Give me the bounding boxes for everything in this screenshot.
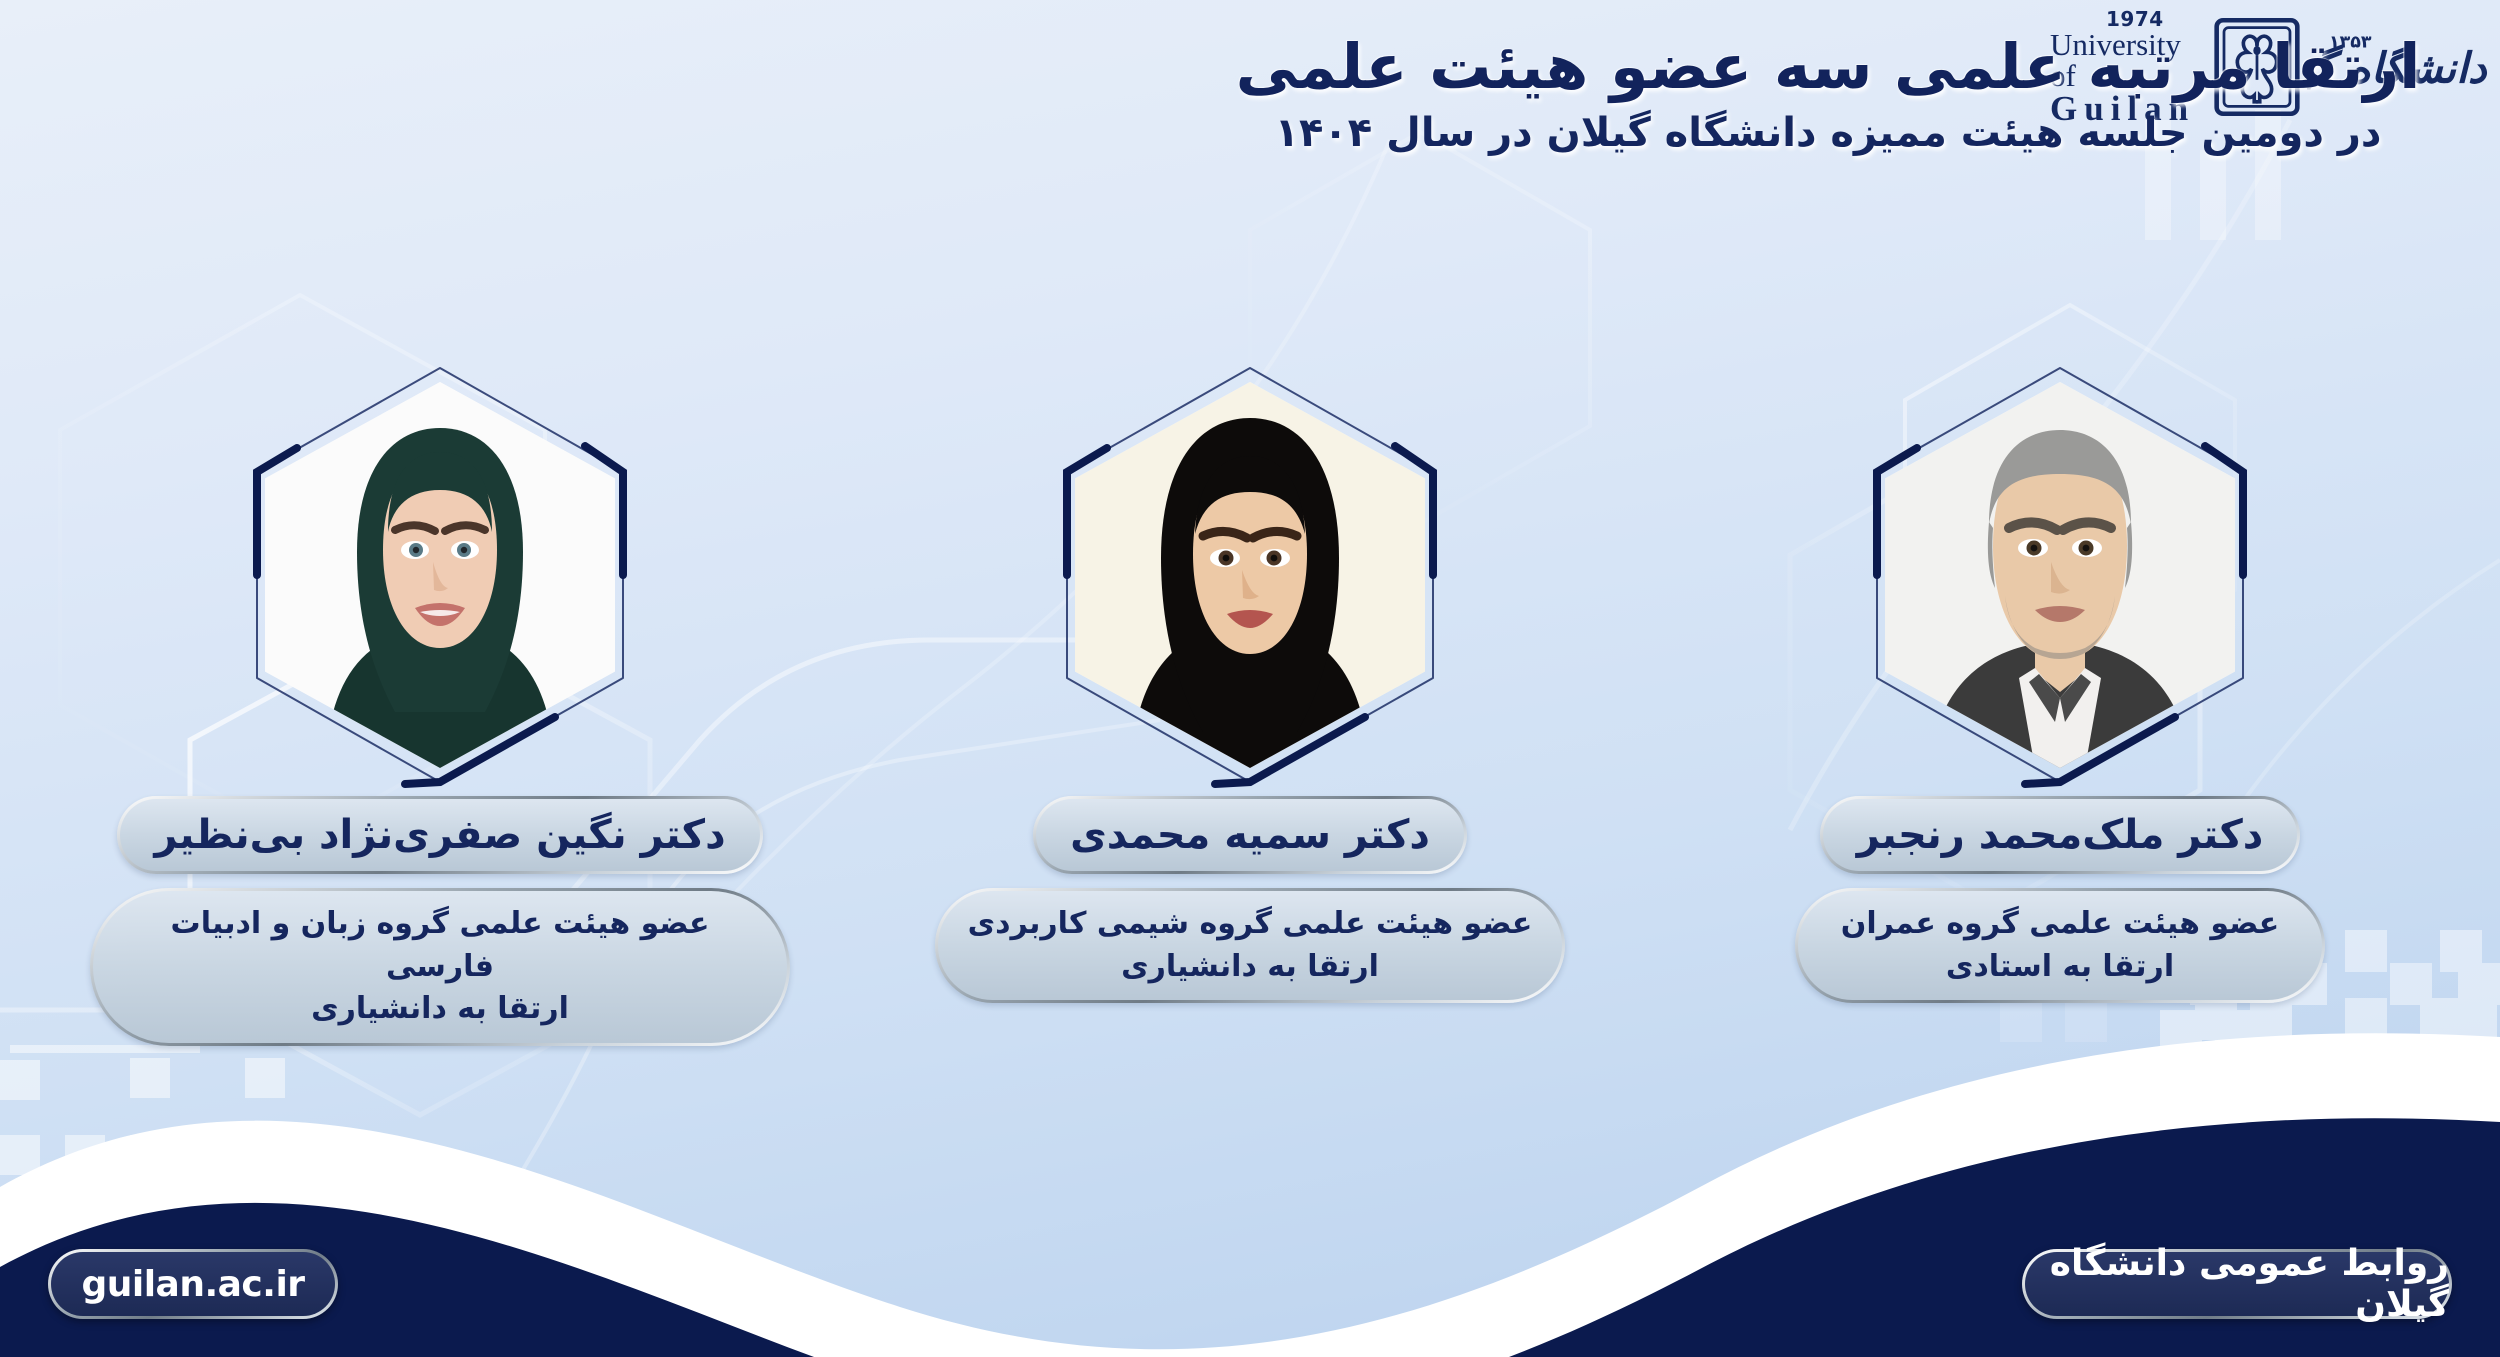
faculty-photo-frame	[1055, 360, 1445, 790]
hexagon-border-icon	[1055, 360, 1445, 790]
page-title: ارتقا مرتبه علمی سه عضو هیئت علمی	[1158, 30, 2498, 103]
title-block: ارتقا مرتبه علمی سه عضو هیئت علمی در دوم…	[1158, 30, 2498, 157]
poster-canvas: 1974 University of Guilan دانشگاه گیلان …	[0, 0, 2500, 1357]
hexagon-border-icon	[1865, 360, 2255, 790]
faculty-photo-frame	[1865, 360, 2255, 790]
hexagon-border-icon	[245, 360, 635, 790]
faculty-name-badge: دکتر نگین صفری‌نژاد بی‌نظیر	[117, 796, 762, 874]
website-label: guilan.ac.ir	[81, 1264, 304, 1305]
faculty-name-badge: دکتر ملک‌محمد رنجبر	[1820, 796, 2301, 874]
website-badge[interactable]: guilan.ac.ir	[48, 1249, 338, 1319]
faculty-name-badge: دکتر سمیه محمدی	[1033, 796, 1467, 874]
faculty-photo-frame	[245, 360, 635, 790]
public-relations-badge: روابط عمومی دانشگاه گیلان	[2022, 1249, 2452, 1319]
page-subtitle: در دومین جلسه هیئت ممیزه دانشگاه گیلان د…	[1158, 109, 2498, 157]
public-relations-label: روابط عمومی دانشگاه گیلان	[2025, 1243, 2449, 1325]
logo-year-en: 1974	[2106, 9, 2201, 29]
